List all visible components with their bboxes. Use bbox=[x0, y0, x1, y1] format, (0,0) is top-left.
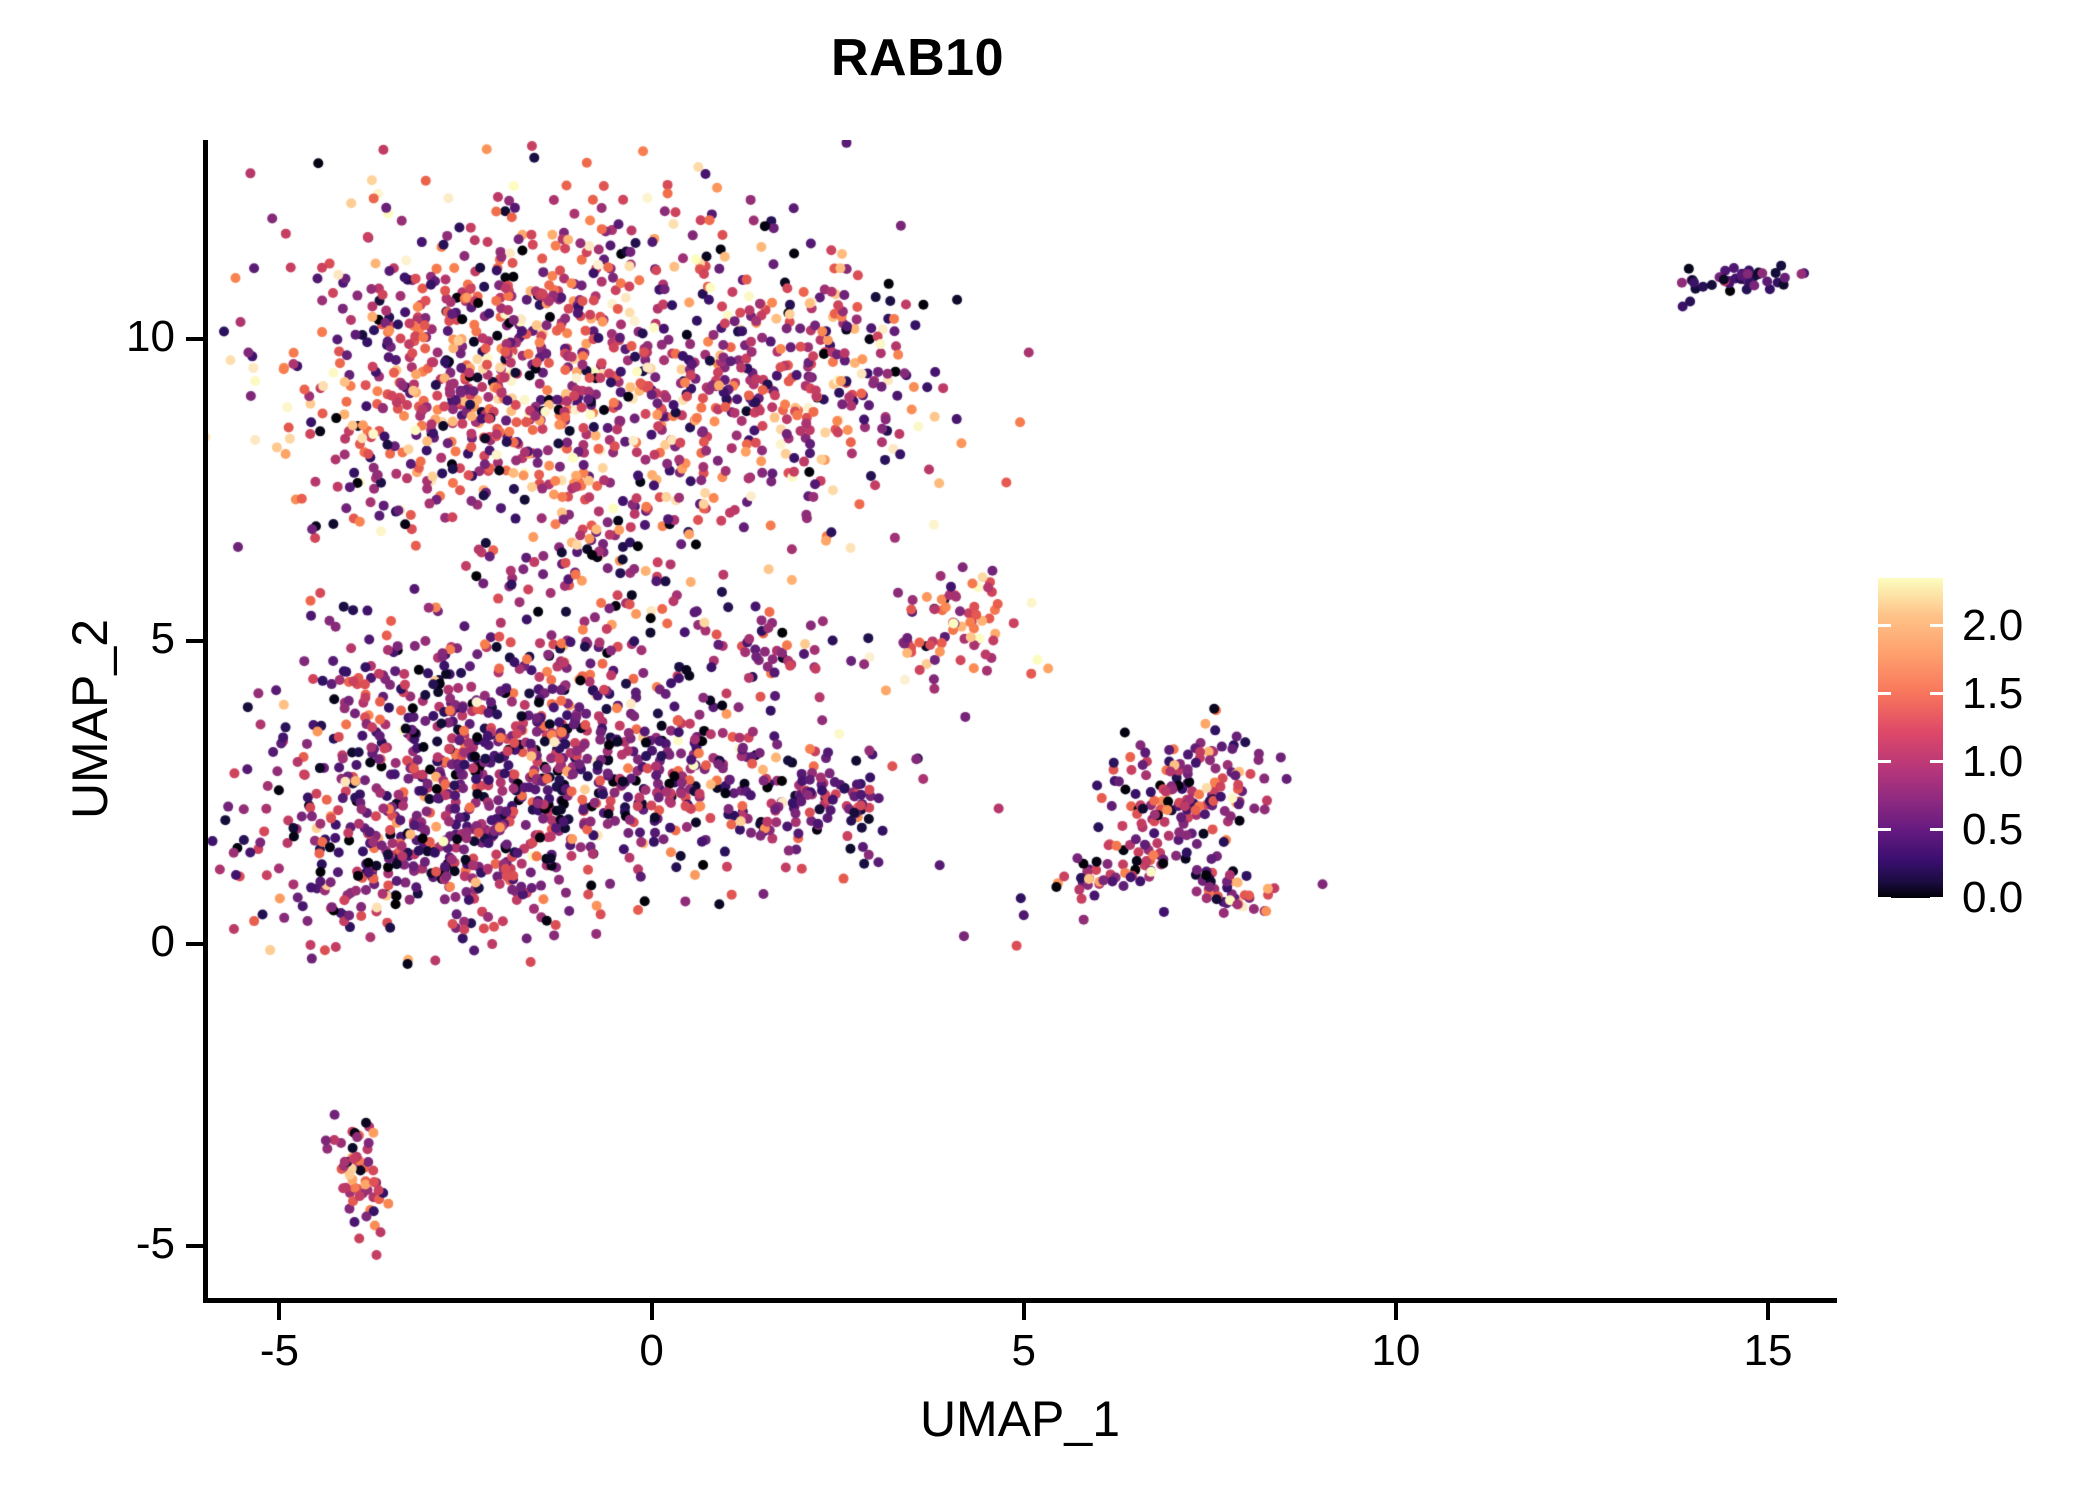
colorbar-tick-mark bbox=[1930, 692, 1943, 695]
colorbar-tick-mark bbox=[1930, 760, 1943, 763]
page-title: RAB10 bbox=[0, 28, 1835, 88]
x-axis-title: UMAP_1 bbox=[203, 1390, 1837, 1448]
colorbar-tick-mark bbox=[1930, 828, 1943, 831]
colorbar-tick-mark bbox=[1878, 624, 1891, 627]
x-tick-mark bbox=[1394, 1303, 1398, 1320]
colorbar-label: 1.5 bbox=[1962, 672, 2023, 716]
color-legend: 0.00.51.01.52.0 bbox=[1878, 578, 2078, 908]
x-axis-line bbox=[203, 1298, 1837, 1303]
colorbar-tick-mark bbox=[1878, 897, 1891, 900]
colorbar-label: 2.0 bbox=[1962, 604, 2023, 648]
chart-root: RAB10 1050-5 -5051015 UMAP_1 UMAP_2 0.00… bbox=[0, 0, 2100, 1500]
colorbar-tick-mark bbox=[1930, 897, 1943, 900]
colorbar-label: 0.0 bbox=[1962, 876, 2023, 920]
x-tick-label: 0 bbox=[552, 1326, 752, 1376]
scatter-points-layer bbox=[205, 140, 1835, 1300]
colorbar-tick-mark bbox=[1878, 692, 1891, 695]
x-tick-mark bbox=[277, 1303, 281, 1320]
x-tick-mark bbox=[650, 1303, 654, 1320]
y-tick-mark bbox=[186, 1244, 203, 1248]
y-axis-title: UMAP_2 bbox=[61, 319, 119, 1119]
colorbar-label: 0.5 bbox=[1962, 808, 2023, 852]
x-tick-label: -5 bbox=[179, 1326, 379, 1376]
colorbar-label: 1.0 bbox=[1962, 740, 2023, 784]
x-tick-label: 15 bbox=[1668, 1326, 1868, 1376]
scatter-plot-panel bbox=[205, 140, 1835, 1300]
x-tick-mark bbox=[1022, 1303, 1026, 1320]
x-tick-mark bbox=[1766, 1303, 1770, 1320]
y-axis-line bbox=[203, 140, 208, 1303]
colorbar-tick-mark bbox=[1878, 828, 1891, 831]
y-tick-mark bbox=[186, 337, 203, 341]
colorbar-tick-mark bbox=[1930, 624, 1943, 627]
y-tick-label: -5 bbox=[5, 1219, 175, 1269]
x-tick-label: 5 bbox=[924, 1326, 1124, 1376]
y-tick-mark bbox=[186, 942, 203, 946]
y-tick-mark bbox=[186, 639, 203, 643]
colorbar-tick-mark bbox=[1878, 760, 1891, 763]
x-tick-label: 10 bbox=[1296, 1326, 1496, 1376]
